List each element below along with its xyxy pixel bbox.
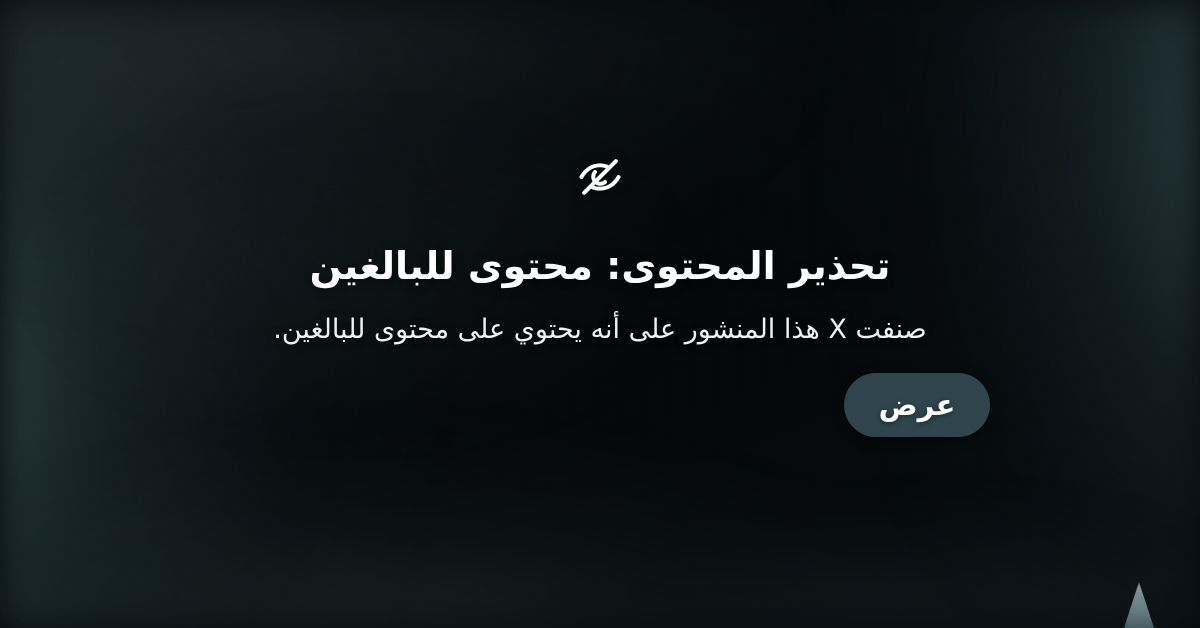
- content-warning-screen: تحذير المحتوى: محتوى للبالغين صنفت X هذا…: [0, 0, 1200, 628]
- dialog-actions: عرض: [210, 373, 990, 437]
- warning-description: صنفت X هذا المنشور على أنه يحتوي على محت…: [273, 311, 926, 349]
- page-title: تحذير المحتوى: محتوى للبالغين: [310, 244, 891, 289]
- eye-off-icon: [575, 152, 625, 202]
- content-warning-dialog: تحذير المحتوى: محتوى للبالغين صنفت X هذا…: [0, 0, 1200, 628]
- view-button[interactable]: عرض: [844, 373, 990, 437]
